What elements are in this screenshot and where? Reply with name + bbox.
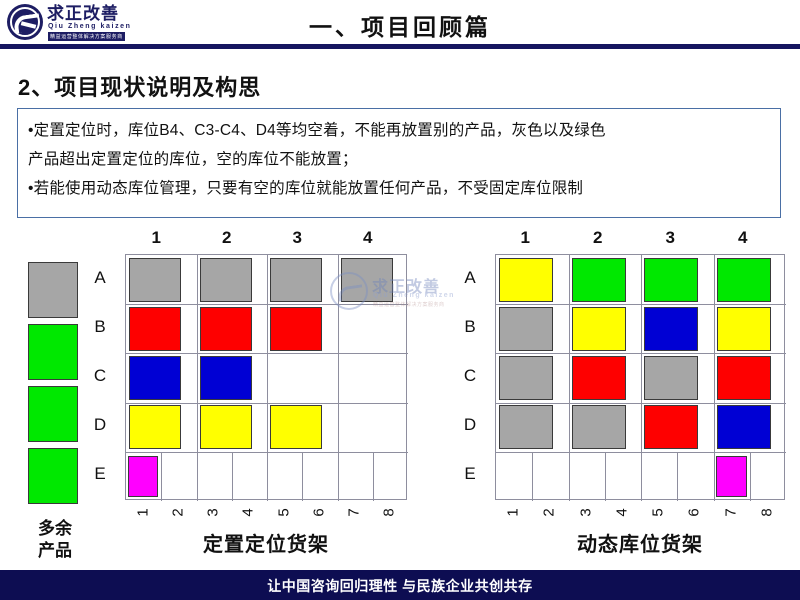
shelf-slot-A1-yellow[interactable] <box>499 258 553 302</box>
grid-vline-sub <box>373 452 374 501</box>
shelf-slot-B2-red[interactable] <box>200 307 252 351</box>
legend-label-line2: 产品 <box>24 540 86 562</box>
shelf-slot-E1-magenta[interactable] <box>128 456 158 497</box>
legend-swatch-gray <box>28 262 78 318</box>
grid-hline <box>126 452 408 453</box>
shelf-slot-A3-gray[interactable] <box>270 258 322 302</box>
shelf-slot-A2-green[interactable] <box>572 258 626 302</box>
bottom-number-4: 4 <box>240 504 257 522</box>
row-label-D: D <box>90 415 110 435</box>
bottom-number-7: 7 <box>346 504 363 522</box>
shelf-slot-D3-yellow[interactable] <box>270 405 322 449</box>
row-label-C: C <box>90 366 110 386</box>
shelf-grid[interactable] <box>495 254 785 500</box>
column-number-1: 1 <box>513 228 537 248</box>
bottom-number-1: 1 <box>134 504 151 522</box>
grid-vline-sub <box>677 452 678 501</box>
grid-vline-sub <box>302 452 303 501</box>
shelf-slot-A3-green[interactable] <box>644 258 698 302</box>
note-line: •若能使用动态库位管理，只要有空的库位就能放置任何产品，不受固定库位限制 <box>28 174 770 203</box>
legend-label: 多余 产品 <box>24 518 86 562</box>
page-footer: 让中国咨询回归理性 与民族企业共创共存 <box>0 570 800 600</box>
bottom-number-2: 2 <box>541 504 558 522</box>
grid-vline <box>569 255 570 501</box>
grid-vline-sub <box>750 452 751 501</box>
grid-vline-sub <box>161 452 162 501</box>
shelf-slot-C3-gray[interactable] <box>644 356 698 400</box>
watermark-tagline: 精益运营整体解决方案服务商 <box>373 301 445 308</box>
bottom-number-8: 8 <box>381 504 398 522</box>
note-line: •定置定位时，库位B4、C3-C4、D4等均空着，不能再放置别的产品，灰色以及绿… <box>28 116 770 145</box>
shelf-slot-C4-red[interactable] <box>717 356 771 400</box>
grid-vline <box>641 255 642 501</box>
column-number-2: 2 <box>586 228 610 248</box>
header-divider <box>0 44 800 49</box>
shelf-slot-D1-gray[interactable] <box>499 405 553 449</box>
bottom-number-1: 1 <box>505 504 522 522</box>
bottom-number-3: 3 <box>205 504 222 522</box>
grid-vline <box>714 255 715 501</box>
bottom-number-5: 5 <box>275 504 292 522</box>
bottom-number-7: 7 <box>722 504 739 522</box>
grid-hline <box>126 353 408 354</box>
shelf-slot-C1-blue[interactable] <box>129 356 181 400</box>
shelf-slot-C2-red[interactable] <box>572 356 626 400</box>
note-box: •定置定位时，库位B4、C3-C4、D4等均空着，不能再放置别的产品，灰色以及绿… <box>17 108 781 218</box>
grid-hline <box>496 353 786 354</box>
column-number-2: 2 <box>215 228 239 248</box>
column-number-1: 1 <box>144 228 168 248</box>
shelf-slot-A4-green[interactable] <box>717 258 771 302</box>
shelf-slot-B1-gray[interactable] <box>499 307 553 351</box>
legend-swatch-green <box>28 324 78 380</box>
page-title: 一、项目回顾篇 <box>0 8 800 42</box>
shelf-slot-A2-gray[interactable] <box>200 258 252 302</box>
bottom-number-2: 2 <box>169 504 186 522</box>
shelf-slot-E7-magenta[interactable] <box>716 456 747 497</box>
row-label-A: A <box>90 268 110 288</box>
shelf-slot-D2-gray[interactable] <box>572 405 626 449</box>
grid-hline <box>126 403 408 404</box>
shelf-slot-D4-blue[interactable] <box>717 405 771 449</box>
row-label-D: D <box>460 415 480 435</box>
grid-vline-sub <box>605 452 606 501</box>
column-number-3: 3 <box>658 228 682 248</box>
grid-vline <box>267 255 268 501</box>
grid-hline <box>496 452 786 453</box>
shelf-slot-C2-blue[interactable] <box>200 356 252 400</box>
row-label-C: C <box>460 366 480 386</box>
shelf-caption: 定置定位货架 <box>125 528 407 557</box>
column-number-4: 4 <box>356 228 380 248</box>
shelf-slot-B3-red[interactable] <box>270 307 322 351</box>
shelf-slot-A1-gray[interactable] <box>129 258 181 302</box>
watermark-logo: 求正改善 Qiu Zheng kaizen 精益运营整体解决方案服务商 <box>330 268 480 316</box>
grid-vline-sub <box>532 452 533 501</box>
grid-vline-sub <box>232 452 233 501</box>
shelf-slot-B4-yellow[interactable] <box>717 307 771 351</box>
bottom-number-6: 6 <box>686 504 703 522</box>
watermark-name-pinyin: Qiu Zheng kaizen <box>373 292 455 299</box>
bottom-number-5: 5 <box>650 504 667 522</box>
dynamic-location-shelf: 1234ABCDE12345678动态库位货架 <box>495 228 791 570</box>
shelf-slot-D3-red[interactable] <box>644 405 698 449</box>
footer-text: 让中国咨询回归理性 与民族企业共创共存 <box>0 576 800 596</box>
legend-label-line1: 多余 <box>24 518 86 540</box>
shelf-slot-B2-yellow[interactable] <box>572 307 626 351</box>
shelf-slot-C1-gray[interactable] <box>499 356 553 400</box>
grid-vline <box>197 255 198 501</box>
row-label-B: B <box>90 317 110 337</box>
row-label-B: B <box>460 317 480 337</box>
shelf-slot-D2-yellow[interactable] <box>200 405 252 449</box>
grid-hline <box>496 403 786 404</box>
section-heading: 2、项目现状说明及构思 <box>18 70 261 102</box>
bottom-number-4: 4 <box>613 504 630 522</box>
legend-swatch-green <box>28 448 78 504</box>
bottom-number-3: 3 <box>577 504 594 522</box>
row-label-E: E <box>90 464 110 484</box>
note-line: 产品超出定置定位的库位，空的库位不能放置； <box>28 145 770 174</box>
shelf-slot-B3-blue[interactable] <box>644 307 698 351</box>
shelf-slot-B1-red[interactable] <box>129 307 181 351</box>
bottom-number-6: 6 <box>310 504 327 522</box>
row-label-E: E <box>460 464 480 484</box>
bottom-number-8: 8 <box>758 504 775 522</box>
watermark-circle-icon <box>330 272 368 310</box>
column-number-4: 4 <box>731 228 755 248</box>
grid-hline <box>496 304 786 305</box>
column-number-3: 3 <box>285 228 309 248</box>
shelf-caption: 动态库位货架 <box>495 528 785 557</box>
shelf-slot-D1-yellow[interactable] <box>129 405 181 449</box>
page-header: 求正改善 Qiu Zheng kaizen 精益运营整体解决方案服务商 一、项目… <box>0 0 800 50</box>
legend-swatch-green <box>28 386 78 442</box>
